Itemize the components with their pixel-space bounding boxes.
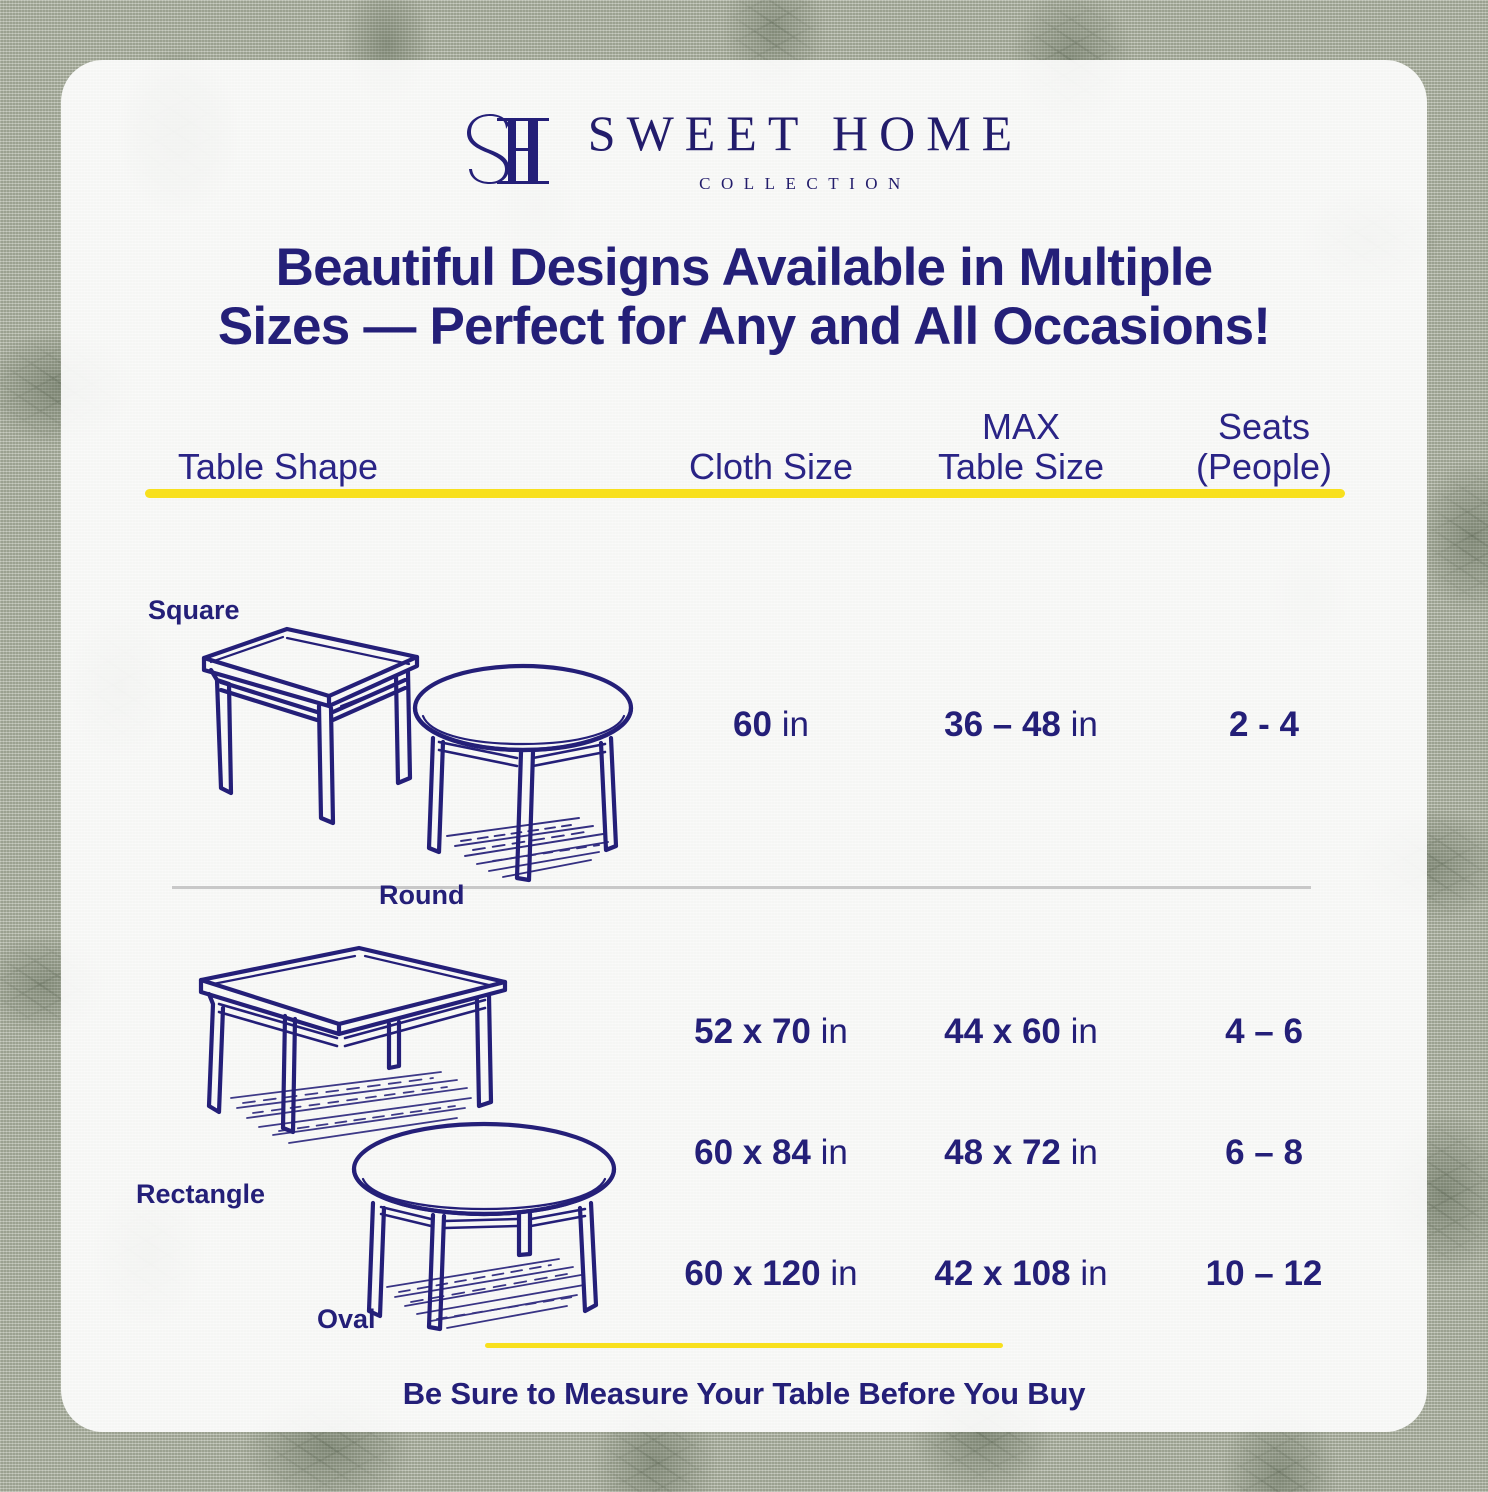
infographic-page: SWEET HOME COLLECTION Beautiful Designs … — [0, 0, 1488, 1492]
cloth-unit-row2: in — [821, 1012, 848, 1051]
brand-logo: SWEET HOME COLLECTION — [61, 108, 1427, 194]
header-seats-line2: (People) — [1196, 446, 1332, 487]
header-table-shape: Table Shape — [133, 447, 423, 488]
cloth-unit-row3: in — [821, 1133, 848, 1172]
max-unit-row4: in — [1080, 1254, 1107, 1293]
round-table-illustration — [403, 660, 651, 890]
max-unit-row1: in — [1071, 705, 1098, 744]
headline-line-1: Beautiful Designs Available in Multiple — [121, 238, 1367, 297]
cloth-value-row3: 60 x 84 — [694, 1133, 811, 1172]
footer-note: Be Sure to Measure Your Table Before You… — [61, 1376, 1427, 1412]
cell-seats-row2: 4 – 6 — [1119, 1012, 1409, 1052]
header-max-line2: Table Size — [938, 446, 1104, 487]
header-seats: Seats (People) — [1119, 407, 1409, 488]
table-column-headers: Table Shape Cloth Size MAX Table Size Se… — [61, 378, 1427, 488]
brand-tagline: COLLECTION — [689, 174, 911, 194]
header-seats-line1: Seats — [1218, 406, 1310, 447]
max-value-row3: 48 x 72 — [944, 1133, 1061, 1172]
max-unit-row2: in — [1071, 1012, 1098, 1051]
shape-label-rectangle: Rectangle — [136, 1179, 265, 1210]
oval-table-illustration — [341, 1115, 641, 1340]
header-max-line1: MAX — [982, 406, 1060, 447]
cloth-value-row4: 60 x 120 — [684, 1254, 820, 1293]
square-table-illustration — [191, 618, 431, 828]
brand-name: SWEET HOME — [577, 108, 1023, 158]
content-card: SWEET HOME COLLECTION Beautiful Designs … — [61, 60, 1427, 1432]
max-value-row4: 42 x 108 — [934, 1254, 1070, 1293]
max-unit-row3: in — [1071, 1133, 1098, 1172]
cloth-value-row2: 52 x 70 — [694, 1012, 811, 1051]
cell-seats-row4: 10 – 12 — [1119, 1254, 1409, 1294]
header-divider-yellow — [145, 489, 1345, 498]
sh-monogram-icon — [465, 114, 551, 188]
max-value-row1: 36 – 48 — [944, 705, 1061, 744]
row-group-divider — [172, 886, 1311, 889]
headline-line-2: Sizes — Perfect for Any and All Occasion… — [121, 297, 1367, 356]
cell-seats-row3: 6 – 8 — [1119, 1133, 1409, 1173]
footer-divider-yellow — [485, 1343, 1003, 1348]
cloth-unit-row4: in — [830, 1254, 857, 1293]
page-title: Beautiful Designs Available in Multiple … — [121, 238, 1367, 357]
cloth-unit-row1: in — [782, 705, 809, 744]
cloth-value-row1: 60 — [733, 705, 772, 744]
cell-seats-row1: 2 - 4 — [1119, 705, 1409, 745]
max-value-row2: 44 x 60 — [944, 1012, 1061, 1051]
